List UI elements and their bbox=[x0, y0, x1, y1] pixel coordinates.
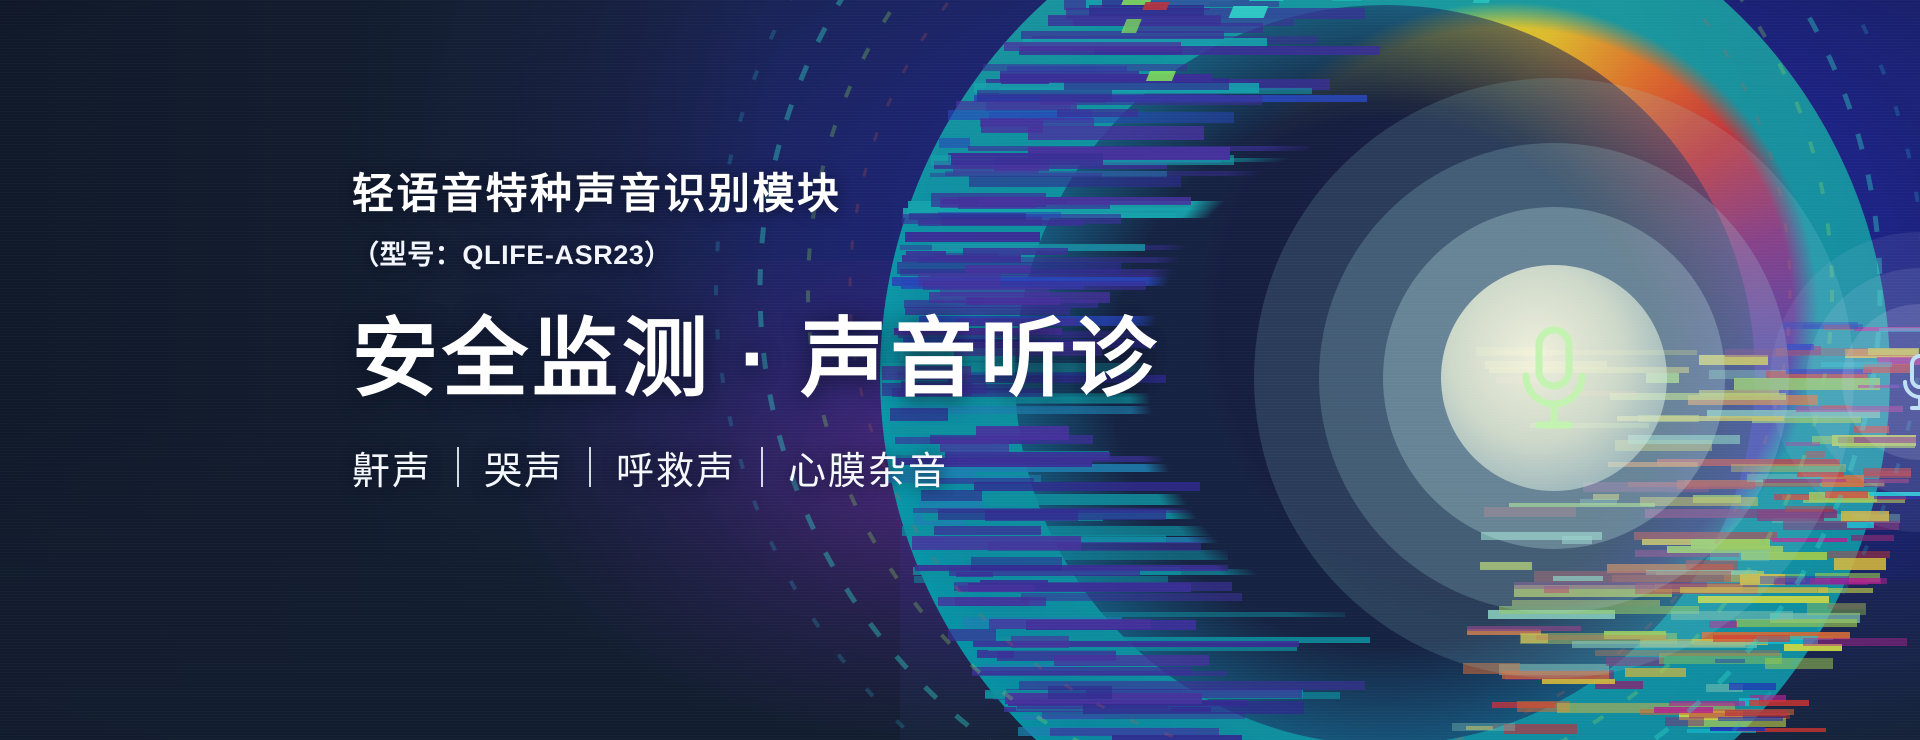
microphone-icon bbox=[1512, 322, 1596, 434]
tag-separator bbox=[589, 447, 591, 487]
tag-separator bbox=[761, 447, 763, 487]
model-number: （型号：QLIFE-ASR23） bbox=[352, 233, 1160, 272]
hero-banner: 轻语音特种声音识别模块 （型号：QLIFE-ASR23） 安全监测 · 声音听诊… bbox=[0, 0, 1920, 740]
feature-tag: 心膜杂音 bbox=[788, 440, 948, 495]
feature-tag: 鼾声 bbox=[352, 440, 432, 495]
product-name: 轻语音特种声音识别模块 bbox=[352, 170, 1160, 217]
page-title: 安全监测 · 声音听诊 bbox=[352, 316, 1160, 404]
hero-copy: 轻语音特种声音识别模块 （型号：QLIFE-ASR23） 安全监测 · 声音听诊… bbox=[352, 170, 1160, 495]
secondary-mic-rings bbox=[1760, 222, 1920, 542]
microphone-icon bbox=[1897, 352, 1920, 412]
tag-separator bbox=[457, 447, 459, 487]
feature-tag-list: 鼾声哭声呼救声心膜杂音 bbox=[352, 440, 1160, 495]
feature-tag: 呼救声 bbox=[616, 440, 736, 495]
feature-tag: 哭声 bbox=[484, 440, 564, 495]
